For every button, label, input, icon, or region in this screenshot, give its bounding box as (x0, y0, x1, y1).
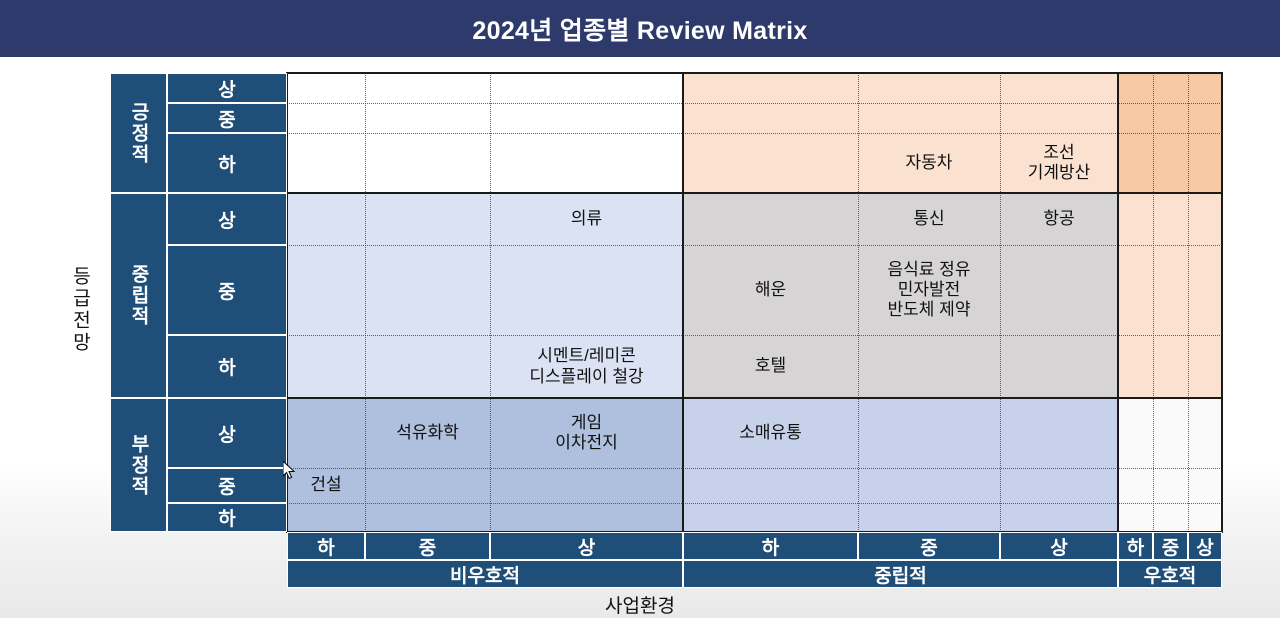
region-border-top (287, 72, 1223, 74)
y-level-negative-high: 상 (167, 398, 287, 468)
matrix-cell-automobile[interactable]: 자동차 (858, 133, 1000, 193)
x-group-label-neutral: 중립적 (683, 560, 1118, 588)
matrix-cell-telecom[interactable]: 통신 (858, 193, 1000, 245)
x-level-neutral-mid: 중 (858, 532, 1000, 560)
title-banner: 2024년 업종별 Review Matrix (0, 0, 1280, 57)
y-level-positive-mid: 중 (167, 103, 287, 133)
matrix-cell-retail[interactable]: 소매유통 (683, 398, 858, 468)
matrix-cell-petrochemical[interactable]: 석유화학 (365, 398, 490, 468)
y-level-negative-low: 하 (167, 503, 287, 532)
gridline-v-6 (1188, 73, 1189, 532)
x-level-favorable-high: 상 (1188, 532, 1222, 560)
matrix-cell-food-refining[interactable]: 음식료 정유 민자발전 반도체 제약 (858, 245, 1000, 335)
gridline-h-6 (287, 503, 1222, 504)
x-level-unfavorable-low: 하 (287, 532, 365, 560)
x-level-neutral-low: 하 (683, 532, 858, 560)
region-bottom-right-white (1118, 398, 1222, 532)
y-group-label-neutral: 중립적 (110, 193, 167, 398)
region-border-right (1221, 72, 1223, 533)
x-level-unfavorable-high: 상 (490, 532, 683, 560)
matrix-cell-aviation[interactable]: 항공 (1000, 193, 1118, 245)
matrix-cell-hotel[interactable]: 호텔 (683, 335, 858, 398)
y-level-positive-low: 하 (167, 133, 287, 193)
x-level-unfavorable-mid: 중 (365, 532, 490, 560)
y-level-neutral-low: 하 (167, 335, 287, 398)
y-level-neutral-mid: 중 (167, 245, 287, 335)
x-group-label-favorable: 우호적 (1118, 560, 1222, 588)
x-level-favorable-mid: 중 (1153, 532, 1188, 560)
matrix-cell-shipbuilding[interactable]: 조선 기계방산 (1000, 133, 1118, 193)
matrix-cell-construction[interactable]: 건설 (287, 468, 365, 503)
y-group-label-negative: 부정적 (110, 398, 167, 532)
gridline-h-1 (287, 103, 1222, 104)
y-group-label-positive: 긍정적 (110, 73, 167, 193)
x-group-label-unfavorable: 비우호적 (287, 560, 683, 588)
x-axis-title: 사업환경 (540, 592, 740, 616)
matrix-cell-apparel[interactable]: 의류 (490, 193, 683, 245)
matrix-cell-shipping[interactable]: 해운 (683, 245, 858, 335)
y-level-negative-mid: 중 (167, 468, 287, 503)
page-title: 2024년 업종별 Review Matrix (472, 11, 807, 47)
x-level-neutral-high: 상 (1000, 532, 1118, 560)
y-level-positive-high: 상 (167, 73, 287, 103)
region-mid-right-peach (1118, 193, 1222, 398)
matrix-cell-game-battery[interactable]: 게임 이차전지 (490, 398, 683, 468)
gridline-v-5 (1153, 73, 1154, 532)
y-level-neutral-high: 상 (167, 193, 287, 245)
matrix-cell-cement-display[interactable]: 시멘트/레미콘 디스플레이 철강 (490, 335, 683, 398)
x-level-favorable-low: 하 (1118, 532, 1153, 560)
gridline-h-5 (287, 468, 1222, 469)
y-axis-title: 등급전망 (60, 230, 100, 390)
